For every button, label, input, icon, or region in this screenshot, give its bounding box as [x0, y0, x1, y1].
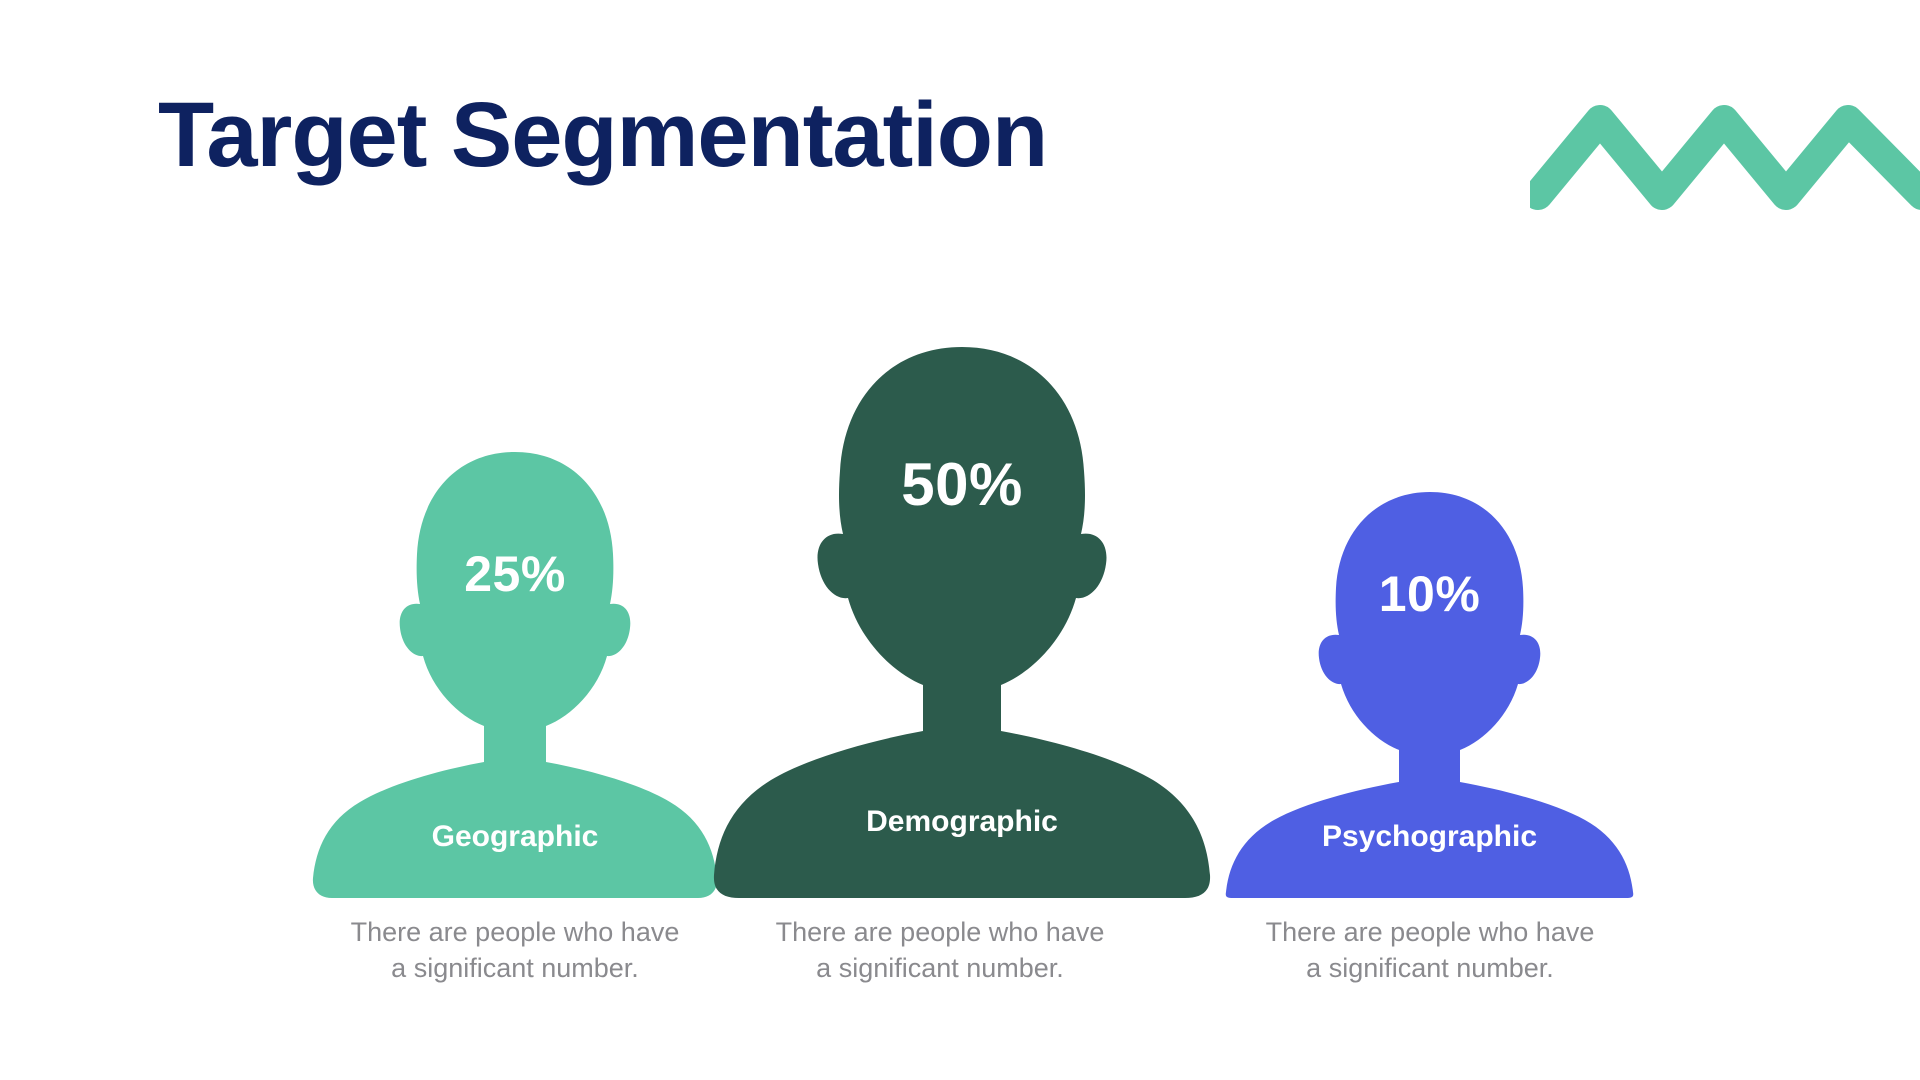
caption-line-1: There are people who have — [776, 917, 1105, 947]
caption-line-2: a significant number. — [730, 951, 1150, 987]
caption-line-2: a significant number. — [1220, 951, 1640, 987]
caption-line-1: There are people who have — [351, 917, 680, 947]
segment-caption-geographic: There are people who have a significant … — [305, 915, 725, 986]
segment-label-geographic: Geographic — [310, 820, 720, 854]
segment-label-psychographic: Psychographic — [1222, 820, 1637, 854]
segment-label-demographic: Demographic — [712, 805, 1212, 839]
segment-psychographic[interactable]: 10% Psychographic — [1222, 490, 1637, 900]
segment-caption-psychographic: There are people who have a significant … — [1220, 915, 1640, 986]
segment-percent-psychographic: 10% — [1222, 565, 1637, 623]
caption-line-1: There are people who have — [1266, 917, 1595, 947]
segment-geographic[interactable]: 25% Geographic — [310, 450, 720, 900]
slide-canvas: Target Segmentation 25% Geographic 10% P… — [0, 0, 1920, 1080]
segment-caption-demographic: There are people who have a significant … — [730, 915, 1150, 986]
segment-percent-demographic: 50% — [712, 450, 1212, 519]
segment-demographic[interactable]: 50% Demographic — [712, 345, 1212, 900]
caption-line-2: a significant number. — [305, 951, 725, 987]
segment-percent-geographic: 25% — [310, 545, 720, 603]
